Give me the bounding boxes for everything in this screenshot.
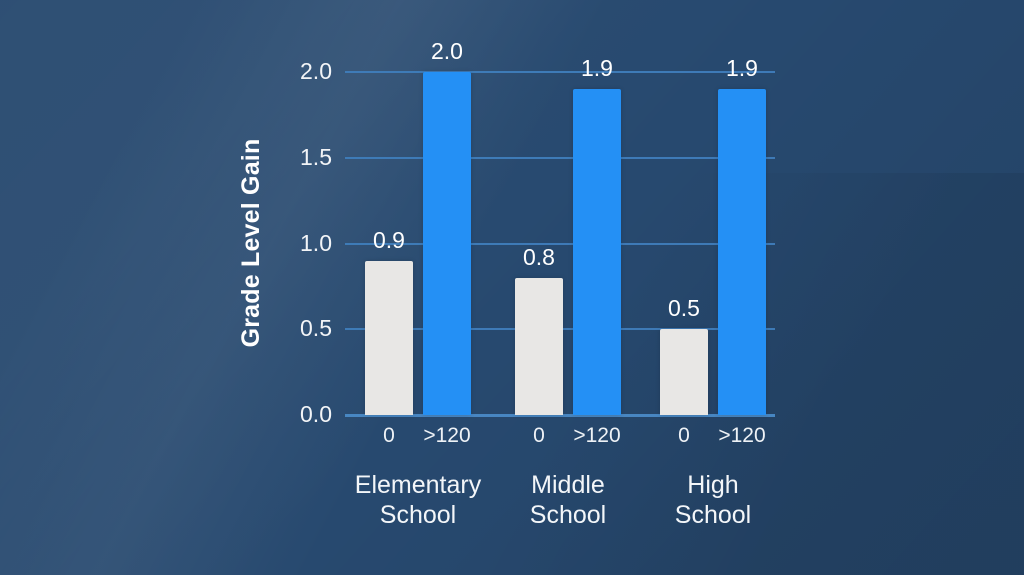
bar-over120-elementary-school[interactable] <box>423 72 471 415</box>
gridline <box>345 157 775 159</box>
bar-0-high-school[interactable] <box>660 329 708 415</box>
slide-canvas: Grade Level Gain 0.00.51.01.52.0 0.92.00… <box>0 0 1024 575</box>
y-axis-tick-label: 2.0 <box>270 60 332 83</box>
group-label-high-school: High School <box>603 470 823 530</box>
bar-0-middle-school[interactable] <box>515 278 563 415</box>
x-axis-tick-label: 0 <box>515 425 563 447</box>
grade-level-gain-bar-chart: Grade Level Gain 0.00.51.01.52.0 0.92.00… <box>0 0 1024 575</box>
bar-value-label: 1.9 <box>573 57 621 80</box>
bar-over120-high-school[interactable] <box>718 89 766 415</box>
bar-value-label: 0.9 <box>365 229 413 252</box>
bar-value-label: 0.8 <box>515 246 563 269</box>
x-axis-tick-label: >120 <box>423 425 471 447</box>
plot-area: 0.92.00.81.90.51.9 <box>345 72 775 415</box>
bar-value-label: 2.0 <box>423 40 471 63</box>
y-axis-tick-label: 0.0 <box>270 403 332 426</box>
x-axis-tick-label: 0 <box>660 425 708 447</box>
x-axis-tick-label: >120 <box>573 425 621 447</box>
x-axis-tick-label: >120 <box>718 425 766 447</box>
y-axis-tick-label: 0.5 <box>270 317 332 340</box>
bar-value-label: 1.9 <box>718 57 766 80</box>
bar-0-elementary-school[interactable] <box>365 261 413 415</box>
y-axis-tick-label: 1.0 <box>270 232 332 255</box>
y-axis-title: Grade Level Gain <box>233 93 269 393</box>
gridline <box>345 71 775 73</box>
y-axis-tick-label: 1.5 <box>270 146 332 169</box>
bar-over120-middle-school[interactable] <box>573 89 621 415</box>
x-axis-tick-label: 0 <box>365 425 413 447</box>
bar-value-label: 0.5 <box>660 297 708 320</box>
